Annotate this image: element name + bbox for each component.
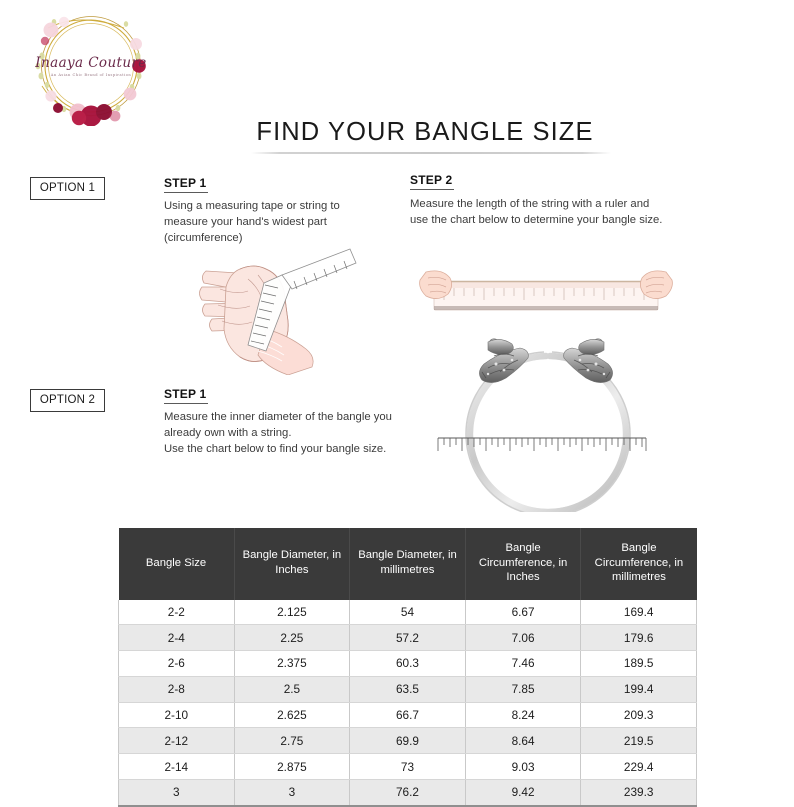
- cell-diameter-inches: 2.375: [234, 651, 350, 677]
- table-row: 2-10 2.625 66.7 8.24 209.3: [119, 702, 697, 728]
- cell-diameter-inches: 3: [234, 779, 350, 805]
- table-row: 2-8 2.5 63.5 7.85 199.4: [119, 676, 697, 702]
- column-header-circumference-inches: Bangle Circumference, in Inches: [465, 528, 581, 600]
- cell-circumference-inches: 6.67: [465, 600, 581, 625]
- cell-circumference-mm: 229.4: [581, 754, 697, 780]
- option-1-step-1-heading: STEP 1: [164, 176, 206, 193]
- cell-diameter-mm: 76.2: [350, 779, 466, 805]
- table-body: 2-2 2.125 54 6.67 169.4 2-4 2.25 57.2 7.…: [119, 600, 697, 806]
- cell-circumference-mm: 199.4: [581, 676, 697, 702]
- cell-diameter-inches: 2.25: [234, 625, 350, 651]
- table-header-row: Bangle Size Bangle Diameter, in Inches B…: [119, 528, 697, 600]
- hand-with-measuring-tape-icon: [196, 243, 368, 375]
- table-row: 3 3 76.2 9.42 239.3: [119, 779, 697, 805]
- table-row: 2-4 2.25 57.2 7.06 179.6: [119, 625, 697, 651]
- brand-tagline: An Asian Chic Brand of Inspiration: [18, 73, 164, 77]
- table-row: 2-14 2.875 73 9.03 229.4: [119, 754, 697, 780]
- cell-bangle-size: 3: [119, 779, 235, 805]
- cell-diameter-mm: 73: [350, 754, 466, 780]
- cell-circumference-inches: 7.85: [465, 676, 581, 702]
- cell-diameter-mm: 69.9: [350, 728, 466, 754]
- option-1-step-2-text: Measure the length of the string with a …: [410, 196, 668, 228]
- cell-circumference-inches: 9.03: [465, 754, 581, 780]
- silver-bangle-with-ruler-icon: [424, 334, 668, 512]
- cell-circumference-mm: 179.6: [581, 625, 697, 651]
- cell-bangle-size: 2-4: [119, 625, 235, 651]
- cell-diameter-inches: 2.875: [234, 754, 350, 780]
- cell-diameter-mm: 60.3: [350, 651, 466, 677]
- option-2-step-1-heading: STEP 1: [164, 387, 206, 404]
- option-1-step-2-heading: STEP 2: [410, 173, 452, 190]
- column-header-bangle-size: Bangle Size: [119, 528, 235, 600]
- cell-bangle-size: 2-12: [119, 728, 235, 754]
- cell-bangle-size: 2-14: [119, 754, 235, 780]
- cell-bangle-size: 2-6: [119, 651, 235, 677]
- column-header-diameter-inches: Bangle Diameter, in Inches: [234, 528, 350, 600]
- cell-diameter-inches: 2.75: [234, 728, 350, 754]
- cell-circumference-inches: 7.46: [465, 651, 581, 677]
- cell-circumference-inches: 8.64: [465, 728, 581, 754]
- cell-diameter-inches: 2.125: [234, 600, 350, 625]
- cell-bangle-size: 2-2: [119, 600, 235, 625]
- option-2-badge: OPTION 2: [30, 389, 105, 412]
- cell-circumference-mm: 189.5: [581, 651, 697, 677]
- table-row: 2-12 2.75 69.9 8.64 219.5: [119, 728, 697, 754]
- column-header-circumference-mm: Bangle Circumference, in millimetres: [581, 528, 697, 600]
- cell-circumference-mm: 169.4: [581, 600, 697, 625]
- option-1-step-1-text: Using a measuring tape or string to meas…: [164, 198, 379, 247]
- table-row: 2-6 2.375 60.3 7.46 189.5: [119, 651, 697, 677]
- page-title: FIND YOUR BANGLE SIZE: [190, 118, 660, 147]
- cell-circumference-mm: 219.5: [581, 728, 697, 754]
- option-1-badge: OPTION 1: [30, 177, 105, 200]
- column-header-diameter-mm: Bangle Diameter, in millimetres: [350, 528, 466, 600]
- cell-circumference-inches: 8.24: [465, 702, 581, 728]
- table-row: 2-2 2.125 54 6.67 169.4: [119, 600, 697, 625]
- table-header: Bangle Size Bangle Diameter, in Inches B…: [119, 528, 697, 600]
- cell-circumference-inches: 9.42: [465, 779, 581, 805]
- cell-bangle-size: 2-10: [119, 702, 235, 728]
- cell-diameter-mm: 66.7: [350, 702, 466, 728]
- cell-circumference-mm: 239.3: [581, 779, 697, 805]
- brand-name: Inaaya Couture: [18, 55, 164, 71]
- cell-circumference-mm: 209.3: [581, 702, 697, 728]
- bangle-size-table: Bangle Size Bangle Diameter, in Inches B…: [118, 528, 697, 807]
- cell-diameter-inches: 2.5: [234, 676, 350, 702]
- cell-diameter-mm: 63.5: [350, 676, 466, 702]
- option-2-step-1-text: Measure the inner diameter of the bangle…: [164, 409, 414, 458]
- cell-diameter-inches: 2.625: [234, 702, 350, 728]
- cell-diameter-mm: 57.2: [350, 625, 466, 651]
- cell-diameter-mm: 54: [350, 600, 466, 625]
- cell-bangle-size: 2-8: [119, 676, 235, 702]
- hands-holding-string-against-ruler-icon: [408, 252, 684, 330]
- title-divider: [251, 152, 611, 154]
- brand-logo: Inaaya Couture An Asian Chic Brand of In…: [18, 8, 164, 126]
- cell-circumference-inches: 7.06: [465, 625, 581, 651]
